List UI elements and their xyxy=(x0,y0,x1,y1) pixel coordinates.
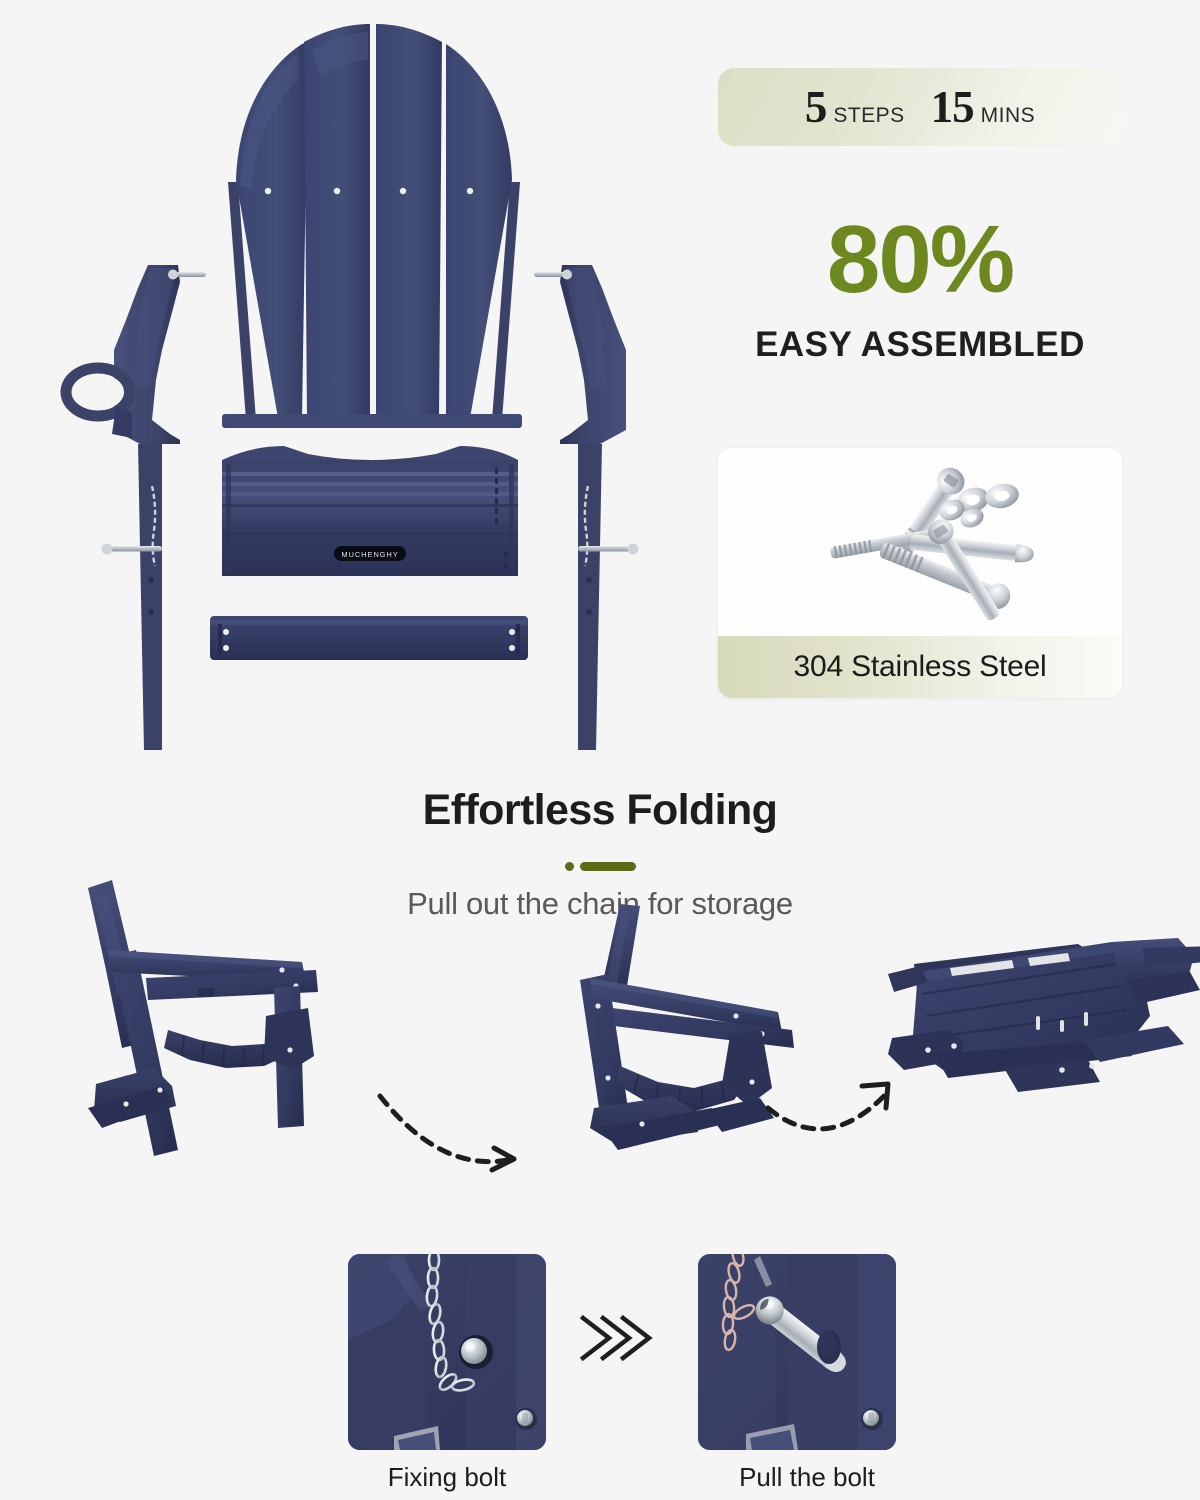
chair-back-fan-slats xyxy=(222,24,522,428)
stainless-steel-card: 304 Stainless Steel xyxy=(718,448,1122,698)
chair-folded-flat xyxy=(888,938,1200,1092)
mins-unit: MINS xyxy=(981,104,1036,128)
chair-open-upright xyxy=(88,880,318,1156)
hardware-photo xyxy=(718,448,1122,638)
curved-dashed-arrow-1 xyxy=(380,1096,514,1170)
brand-badge: MUCHENGHY xyxy=(334,546,406,561)
steps-value: 5 xyxy=(805,85,827,130)
steps-unit: STEPS xyxy=(833,104,904,128)
steel-label: 304 Stainless Steel xyxy=(793,650,1046,684)
left-arm-with-cup-holder xyxy=(66,265,206,750)
arm-bolt-left xyxy=(168,270,206,280)
triple-chevron-right-icon xyxy=(577,1308,669,1368)
svg-text:MUCHENGHY: MUCHENGHY xyxy=(341,550,398,559)
cup-holder-ring xyxy=(66,368,132,438)
pull-the-bolt-photo xyxy=(698,1254,896,1450)
steps-time-badge: 5 STEPS 15 MINS xyxy=(718,68,1122,146)
lower-screw xyxy=(861,1408,883,1430)
fixing-bolt-caption: Fixing bolt xyxy=(317,1462,577,1493)
front-cross-brace xyxy=(210,616,528,660)
easy-assembled-percent: 80% xyxy=(718,212,1122,308)
seat-assembly: MUCHENGHY xyxy=(222,446,518,576)
easy-assembled-label: EASY ASSEMBLED xyxy=(718,325,1122,365)
lower-screw xyxy=(515,1408,537,1430)
chair-mid-fold xyxy=(580,904,794,1150)
curved-dashed-arrow-2 xyxy=(768,1084,888,1129)
pull-the-bolt-caption: Pull the bolt xyxy=(677,1462,937,1493)
mins-value: 15 xyxy=(931,85,974,130)
steps-group: 5 STEPS xyxy=(805,85,905,130)
arm-bolt-right xyxy=(534,270,572,280)
infographic-page: MUCHENGHY 5 STEPS 15 MINS 80% EA xyxy=(0,0,1200,1500)
section-title: Effortless Folding xyxy=(0,786,1200,835)
mins-group: 15 MINS xyxy=(931,85,1036,130)
bolt-c xyxy=(909,533,1034,564)
folding-sequence xyxy=(50,860,1180,1240)
fixing-bolt-head xyxy=(459,1335,493,1369)
steel-label-band: 304 Stainless Steel xyxy=(718,636,1122,698)
fixing-bolt-photo xyxy=(348,1254,546,1450)
right-arm xyxy=(534,265,639,750)
chair-parts-diagram: MUCHENGHY xyxy=(40,20,700,760)
